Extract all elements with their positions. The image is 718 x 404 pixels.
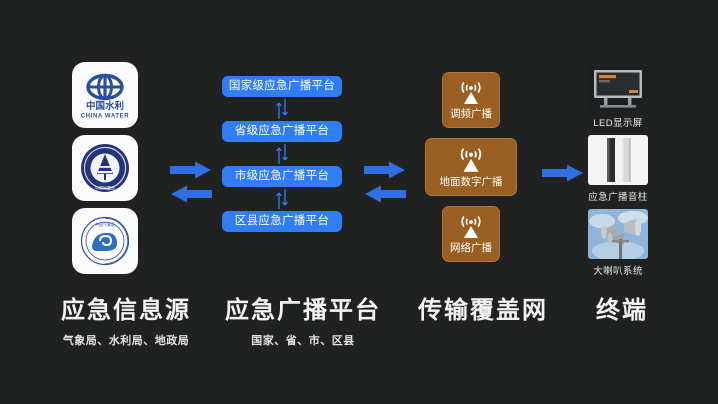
transmission-label: 地面数字广播 (430, 176, 512, 189)
terminal-label: 大喇叭系统 (586, 263, 650, 277)
arrow-platforms-to-transmission (362, 160, 408, 204)
transmission-fm-broadcast[interactable]: 调频广播 (442, 72, 500, 128)
transmission-network-broadcast[interactable]: 网络广播 (442, 206, 500, 262)
footer-column-platforms: 应急广播平台 国家、省、市、区县 (208, 296, 398, 348)
transmission-coverage-network-column: 调频广播 地面数字广播 网络广播 (425, 72, 517, 262)
footer-column-terminals: 终端 (562, 296, 682, 332)
arrow-sources-to-platforms (168, 160, 214, 204)
svg-text:CHINA WATER: CHINA WATER (81, 114, 129, 120)
arrow-transmission-to-terminals (540, 163, 586, 183)
spacer (425, 196, 517, 206)
terminal-led-display[interactable]: LED显示屏 (586, 66, 650, 129)
platform-link-arrow (222, 142, 342, 166)
footer-subtitle: 气象局、水利局、地政局 (36, 332, 216, 348)
footer-subtitle: 国家、省、市、区县 (208, 332, 398, 348)
transmission-terrestrial-digital-broadcast[interactable]: 地面数字广播 (425, 138, 517, 196)
svg-text:中国水利: 中国水利 (86, 100, 124, 112)
footer-column-sources: 应急信息源 气象局、水利局、地政局 (36, 296, 216, 348)
transmission-label: 调频广播 (447, 108, 495, 121)
terminal-loudspeaker-system[interactable]: 大喇叭系统 (586, 209, 650, 277)
footer-title: 应急信息源 (36, 296, 216, 326)
speaker-column-icon (588, 135, 648, 185)
china-water-logo: 中国水利 CHINA WATER (72, 62, 138, 128)
emergency-information-sources-column: 中国水利 CHINA WATER 中国地震局 (72, 62, 144, 281)
diagram-canvas: 中国水利 CHINA WATER 中国地震局 (0, 0, 718, 404)
terminal-column: LED显示屏 应急广播音柱 (586, 66, 650, 283)
spacer (425, 128, 517, 138)
footer-title: 传输覆盖网 (398, 296, 568, 326)
broadcast-tower-icon (456, 214, 486, 240)
china-earthquake-administration-logo: 中国地震局 (72, 135, 138, 201)
platform-district[interactable]: 区县应急广播平台 (222, 211, 342, 232)
platform-municipal[interactable]: 市级应急广播平台 (222, 166, 342, 187)
transmission-label: 网络广播 (447, 242, 495, 255)
emergency-broadcast-platform-column: 国家级应急广播平台 省级应急广播平台 市级应急广播平台 区县应急广播平台 (222, 76, 342, 232)
footer-column-transmission: 传输覆盖网 (398, 296, 568, 332)
svg-text:中国气象局: 中国气象局 (95, 221, 115, 227)
terminal-label: LED显示屏 (586, 115, 650, 129)
platform-national[interactable]: 国家级应急广播平台 (222, 76, 342, 97)
loudspeaker-horn-icon (588, 209, 648, 259)
broadcast-tower-icon (455, 146, 487, 174)
terminal-speaker-column[interactable]: 应急广播音柱 (586, 135, 650, 203)
platform-link-arrow (222, 97, 342, 121)
china-meteorological-administration-logo: 中国气象局 (72, 208, 138, 274)
footer-title: 终端 (562, 296, 682, 326)
svg-text:中国地震局: 中国地震局 (95, 185, 115, 191)
terminal-label: 应急广播音柱 (586, 189, 650, 203)
footer-title: 应急广播平台 (208, 296, 398, 326)
led-display-icon (588, 66, 648, 111)
platform-link-arrow (222, 187, 342, 211)
broadcast-tower-icon (456, 80, 486, 106)
platform-provincial[interactable]: 省级应急广播平台 (222, 121, 342, 142)
